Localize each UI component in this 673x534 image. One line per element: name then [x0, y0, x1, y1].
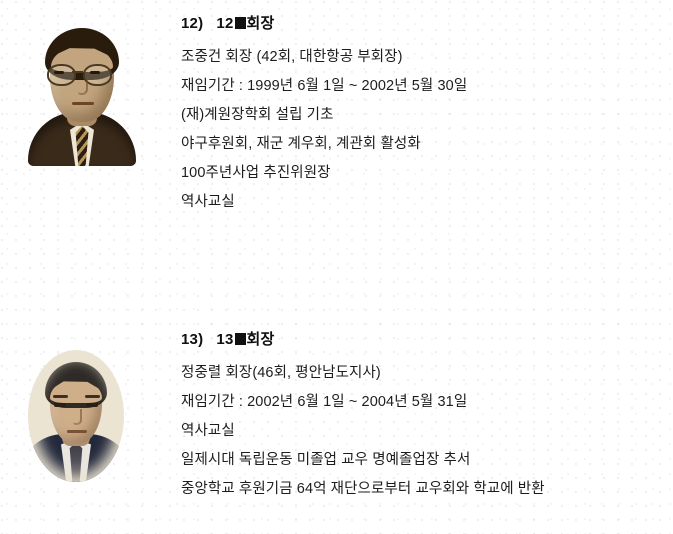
entry-12-title: 12) 12회장 [181, 14, 661, 34]
portrait-12-right-eye [90, 71, 100, 74]
entry-13-text-column: 13) 13회장 정중렬 회장(46회, 평안남도지사) 재임기간 : 2002… [181, 330, 661, 504]
president-entry-13: 13) 13회장 정중렬 회장(46회, 평안남도지사) 재임기간 : 2002… [0, 312, 673, 534]
entry-12-text-column: 12) 12회장 조중건 회장 (42회, 대한항공 부회장) 재임기간 : 1… [181, 14, 661, 217]
entry-12-term-number: 12 [216, 15, 233, 32]
portrait-12-glasses-left-lens [47, 64, 76, 86]
entry-12-line-3: (재)계원장학회 설립 기초 [181, 101, 661, 130]
entry-13-line-1: 정중렬 회장(46회, 평안남도지사) [181, 359, 661, 388]
portrait-12-glasses-bridge [72, 71, 83, 73]
portrait-13-left-eye [54, 403, 66, 407]
portrait-13-hair [45, 362, 107, 408]
portrait-image-12 [22, 14, 142, 166]
document-page: 12) 12회장 조중건 회장 (42회, 대한항공 부회장) 재임기간 : 1… [0, 0, 673, 534]
entry-13-line-2: 재임기간 : 2002년 6월 1일 ~ 2004년 5월 31일 [181, 388, 661, 417]
missing-glyph-box-icon [235, 17, 246, 29]
portrait-12-nose [78, 80, 88, 95]
entry-12-line-6: 역사교실 [181, 188, 661, 217]
entry-12-line-1: 조중건 회장 (42회, 대한항공 부회장) [181, 43, 661, 72]
portrait-13-mouth [67, 430, 87, 433]
entry-13-index: 13) [181, 331, 203, 348]
entry-13-term-number: 13 [216, 331, 233, 348]
entry-13-title-suffix: 회장 [247, 331, 275, 348]
portrait-13-right-eyebrow [85, 395, 100, 398]
portrait-12-left-eye [54, 71, 64, 74]
portrait-photo-13 [28, 350, 138, 490]
entry-12-line-5: 100주년사업 추진위원장 [181, 159, 661, 188]
portrait-13-left-eyebrow [53, 395, 68, 398]
entry-12-title-suffix: 회장 [247, 15, 275, 32]
portrait-12-mouth [72, 102, 94, 105]
entry-13-title: 13) 13회장 [181, 330, 661, 350]
portrait-image-13 [28, 350, 124, 482]
entry-12-line-2: 재임기간 : 1999년 6월 1일 ~ 2002년 5월 30일 [181, 72, 661, 101]
entry-13-line-3: 역사교실 [181, 417, 661, 446]
entry-13-line-4: 일제시대 독립운동 미졸업 교우 명예졸업장 추서 [181, 446, 661, 475]
entry-12-index: 12) [181, 15, 203, 32]
portrait-13-nose [73, 409, 82, 425]
portrait-13-right-eye [86, 403, 98, 407]
portrait-photo-12 [22, 14, 162, 184]
president-entry-12: 12) 12회장 조중건 회장 (42회, 대한항공 부회장) 재임기간 : 1… [0, 0, 673, 300]
entry-13-line-5: 중앙학교 후원기금 64억 재단으로부터 교우회와 학교에 반환 [181, 475, 661, 504]
missing-glyph-box-icon [235, 333, 246, 345]
entry-12-line-4: 야구후원회, 재군 계우회, 계관회 활성화 [181, 130, 661, 159]
